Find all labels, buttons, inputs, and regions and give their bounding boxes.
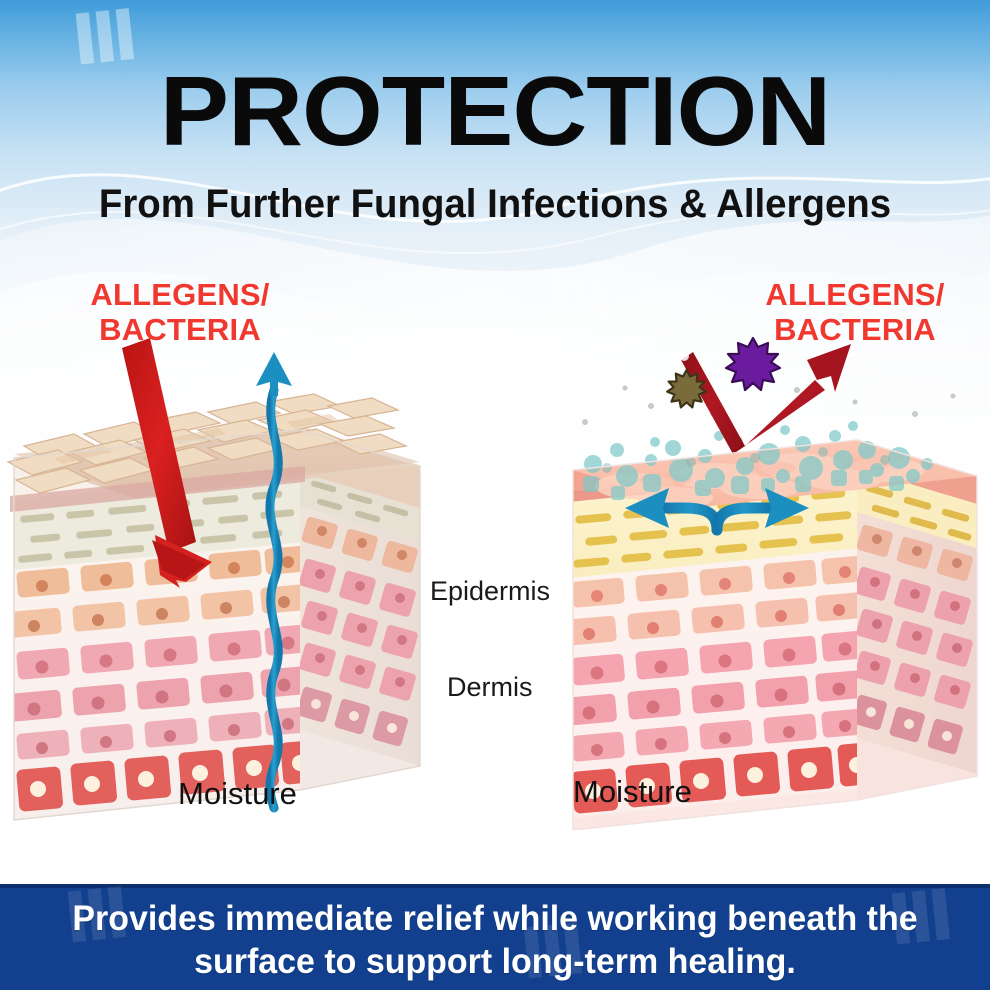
- page-title: PROTECTION: [0, 62, 990, 160]
- germ-icon-purple: [726, 338, 780, 390]
- skin-block-unprotected: [0, 330, 440, 830]
- watermark-top-left: Ⅲ: [69, 7, 137, 69]
- layer-label-dermis: Dermis: [447, 672, 533, 703]
- moisture-label-left: Moisture: [178, 776, 297, 812]
- skin-block-protected: [555, 318, 990, 830]
- banner-message: Provides immediate relief while working …: [15, 898, 975, 983]
- banner-line-2: surface to support long-term healing.: [15, 941, 975, 984]
- banner-line-1: Provides immediate relief while working …: [15, 898, 975, 941]
- layer-label-epidermis: Epidermis: [430, 576, 550, 607]
- banner-top-accent: [0, 884, 990, 888]
- moisture-label-right: Moisture: [573, 774, 692, 810]
- infographic-canvas: Ⅲ Ⅲ PROTECTION From Further Fungal Infec…: [0, 0, 990, 990]
- page-subtitle: From Further Fungal Infections & Allerge…: [20, 184, 970, 224]
- bottom-banner: Ⅲ Ⅲ Ⅲ Provides immediate relief while wo…: [0, 884, 990, 990]
- floating-particles: [582, 386, 956, 426]
